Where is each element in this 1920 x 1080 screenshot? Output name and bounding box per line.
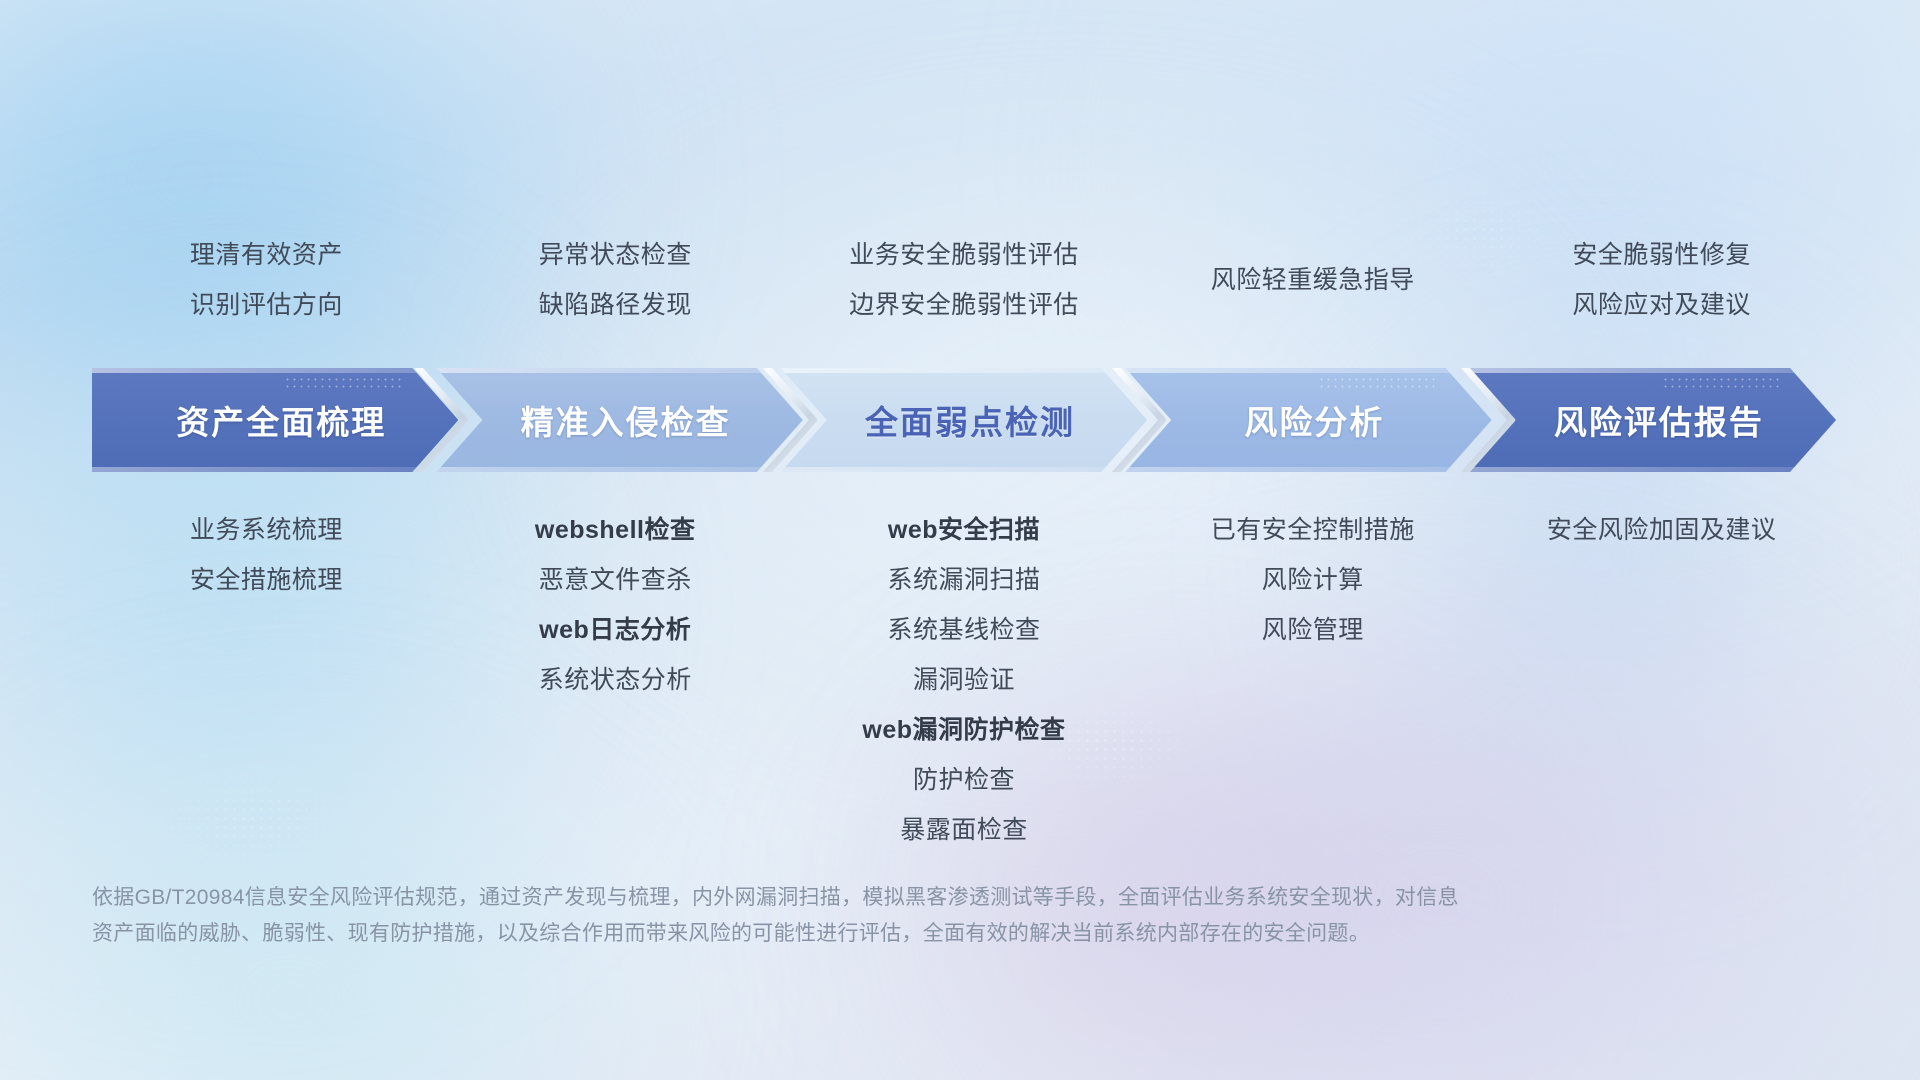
activity-text: web安全扫描 (790, 505, 1139, 555)
step-2-activities: webshell检查 恶意文件查杀 web日志分析 系统状态分析 (441, 505, 790, 855)
outcome-text: 业务安全脆弱性评估 (790, 230, 1139, 280)
process-arrow-band: 资产全面梳理 精准入侵检查 全面弱点检测 风险分析 风险评估报告 (92, 368, 1836, 472)
footer-description: 依据GB/T20984信息安全风险评估规范，通过资产发现与梳理，内外网漏洞扫描，… (92, 880, 1592, 952)
activities-row-bottom: 业务系统梳理 安全措施梳理 webshell检查 恶意文件查杀 web日志分析 … (92, 505, 1836, 855)
dot-texture-icon (1662, 376, 1782, 392)
dot-texture-icon (1318, 376, 1438, 392)
activity-text: 系统基线检查 (790, 605, 1139, 655)
step-5-activities: 安全风险加固及建议 (1487, 505, 1836, 855)
activity-text: 安全风险加固及建议 (1487, 505, 1836, 555)
outcome-text: 安全脆弱性修复 (1487, 230, 1836, 280)
process-step-1-label: 资产全面梳理 (164, 396, 386, 444)
step-4-activities: 已有安全控制措施 风险计算 风险管理 (1138, 505, 1487, 855)
process-step-5[interactable]: 风险评估报告 (1470, 368, 1836, 472)
activity-text: 防护检查 (790, 755, 1139, 805)
activity-text: 系统漏洞扫描 (790, 555, 1139, 605)
process-step-3[interactable]: 全面弱点检测 (781, 368, 1147, 472)
step-5-outcomes-above: 安全脆弱性修复 风险应对及建议 (1487, 230, 1836, 330)
diagram-content: 理清有效资产 识别评估方向 异常状态检查 缺陷路径发现 业务安全脆弱性评估 边界… (0, 0, 1920, 1080)
outcome-text: 理清有效资产 (92, 230, 441, 280)
activity-text: 漏洞验证 (790, 655, 1139, 705)
step-1-outcomes-above: 理清有效资产 识别评估方向 (92, 230, 441, 330)
outcome-text: 识别评估方向 (92, 280, 441, 330)
activity-text: 安全措施梳理 (92, 555, 441, 605)
outcome-text: 风险轻重缓急指导 (1138, 230, 1487, 330)
outcome-text: 边界安全脆弱性评估 (790, 280, 1139, 330)
process-step-4-label: 风险分析 (1232, 396, 1384, 444)
activity-text: webshell检查 (441, 505, 790, 555)
step-1-activities: 业务系统梳理 安全措施梳理 (92, 505, 441, 855)
outcome-text: 风险应对及建议 (1487, 280, 1836, 330)
activity-text: 系统状态分析 (441, 655, 790, 705)
process-step-4[interactable]: 风险分析 (1125, 368, 1491, 472)
outcome-text: 异常状态检查 (441, 230, 790, 280)
step-3-activities: web安全扫描 系统漏洞扫描 系统基线检查 漏洞验证 web漏洞防护检查 防护检… (790, 505, 1139, 855)
activity-text: 已有安全控制措施 (1138, 505, 1487, 555)
footer-line-2: 资产面临的威胁、脆弱性、现有防护措施，以及综合作用而带来风险的可能性进行评估，全… (92, 916, 1592, 952)
outcome-text: 缺陷路径发现 (441, 280, 790, 330)
activity-text: web漏洞防护检查 (790, 705, 1139, 755)
footer-line-1: 依据GB/T20984信息安全风险评估规范，通过资产发现与梳理，内外网漏洞扫描，… (92, 880, 1592, 916)
activity-text: web日志分析 (441, 605, 790, 655)
dot-texture-icon (284, 376, 404, 392)
activity-text: 恶意文件查杀 (441, 555, 790, 605)
process-step-2-label: 精准入侵检查 (509, 396, 731, 444)
activity-text: 风险管理 (1138, 605, 1487, 655)
slide-canvas: 理清有效资产 识别评估方向 异常状态检查 缺陷路径发现 业务安全脆弱性评估 边界… (0, 0, 1920, 1080)
process-step-5-label: 风险评估报告 (1542, 396, 1764, 444)
step-4-outcomes-above: 风险轻重缓急指导 (1138, 230, 1487, 330)
process-step-3-label: 全面弱点检测 (853, 396, 1075, 444)
step-3-outcomes-above: 业务安全脆弱性评估 边界安全脆弱性评估 (790, 230, 1139, 330)
activity-text: 业务系统梳理 (92, 505, 441, 555)
outcomes-row-top: 理清有效资产 识别评估方向 异常状态检查 缺陷路径发现 业务安全脆弱性评估 边界… (92, 230, 1836, 330)
activity-text: 风险计算 (1138, 555, 1487, 605)
activity-text: 暴露面检查 (790, 805, 1139, 855)
process-step-2[interactable]: 精准入侵检查 (436, 368, 802, 472)
process-step-1[interactable]: 资产全面梳理 (92, 368, 458, 472)
step-2-outcomes-above: 异常状态检查 缺陷路径发现 (441, 230, 790, 330)
